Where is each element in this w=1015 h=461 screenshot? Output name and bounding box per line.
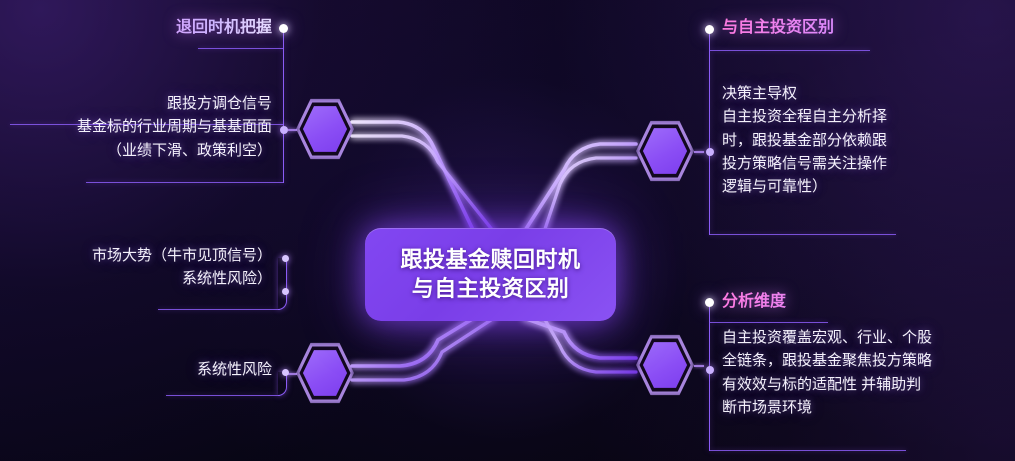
center-node-line-1: 跟投基金赎回时机 — [400, 247, 580, 274]
hex-node-analysis-dimension — [636, 333, 694, 397]
branch-line-analysis-2: 全链条，跟投基金聚焦投方策略 — [722, 349, 1014, 372]
branch-line-exit-timing-3: （业绩下滑、政策利空） — [0, 139, 272, 162]
branch-heading-exit-timing: 退回时机把握 — [0, 18, 272, 38]
hex-node-exit-timing — [296, 97, 354, 161]
branch-systemic-risk[interactable]: 系统性风险 — [0, 358, 272, 381]
branch-heading-analysis-dimension: 分析维度 — [722, 292, 1014, 312]
branch-dot-exit-timing — [279, 24, 288, 33]
rail-exit-timing — [283, 28, 284, 183]
branch-line-systemic-risk-1: 系统性风险 — [0, 358, 272, 381]
branch-line-diff-4: 投方策略信号需关注操作 — [722, 152, 1012, 175]
diagram-canvas: 跟投基金赎回时机 与自主投资区别 退回时机把握 跟投方调仓信号 基金标的行业周期… — [0, 0, 1015, 461]
branch-line-analysis-4: 断市场景环境 — [722, 396, 1014, 419]
branch-dot-analysis-dimension — [705, 298, 714, 307]
rail-analysis-dimension — [709, 303, 710, 451]
branch-analysis-dimension[interactable]: 分析维度 自主投资覆盖宏观、行业、个股 全链条，跟投基金聚焦投方策略 有效效与标… — [722, 292, 1014, 419]
center-node-line-2: 与自主投资区别 — [412, 276, 570, 303]
branch-exit-timing[interactable]: 退回时机把握 跟投方调仓信号 基金标的行业周期与基基面面 （业绩下滑、政策利空） — [0, 18, 272, 162]
branch-heading-diff-from-self-investing: 与自主投资区别 — [722, 18, 1012, 38]
branch-dot-diff-from-self-investing — [705, 25, 714, 34]
branch-line-diff-2: 自主投资全程自主分析择 — [722, 105, 1012, 128]
rail-tick-exit-timing-3 — [86, 182, 284, 183]
branch-line-market-trend-2: 系统性风险） — [0, 267, 272, 290]
branch-diff-from-self-investing[interactable]: 与自主投资区别 决策主导权 自主投资全程自主分析择 时，跟投基金部分依赖跟 投方… — [722, 18, 1012, 198]
branch-dot-market-trend-1 — [282, 255, 289, 262]
branch-line-exit-timing-1: 跟投方调仓信号 — [0, 92, 272, 115]
rail-market-trend — [278, 258, 287, 310]
rail-diff-from-self-investing — [709, 30, 710, 235]
branch-market-trend[interactable]: 市场大势（牛市见顶信号） 系统性风险） — [0, 244, 272, 291]
rail-dot-analysis-dimension — [706, 366, 714, 374]
branch-line-diff-1: 决策主导权 — [722, 82, 1012, 105]
hex-node-diff-from-self-investing — [636, 119, 694, 183]
branch-line-analysis-3: 有效效与标的适配性 并辅助判 — [722, 373, 1014, 396]
rail-dot-exit-timing — [280, 126, 288, 134]
branch-dot-market-trend-2 — [282, 288, 289, 295]
branch-line-diff-5: 逻辑与可靠性） — [722, 175, 1012, 198]
branch-line-market-trend-1: 市场大势（牛市见顶信号） — [0, 244, 272, 267]
rail-dot-diff-from-self-investing — [706, 148, 714, 156]
rail-tick-analysis-2 — [710, 450, 906, 451]
branch-line-diff-3: 时，跟投基金部分依赖跟 — [722, 129, 1012, 152]
center-node[interactable]: 跟投基金赎回时机 与自主投资区别 — [365, 228, 616, 321]
branch-dot-systemic-risk — [282, 369, 289, 376]
rail-tick-systemic-risk — [166, 395, 280, 396]
branch-line-exit-timing-2: 基金标的行业周期与基基面面 — [0, 115, 272, 138]
hex-node-systemic-risk — [296, 341, 354, 405]
rail-tick-diff-2 — [710, 234, 896, 235]
branch-line-analysis-1: 自主投资覆盖宏观、行业、个股 — [722, 326, 1014, 349]
rail-tick-market-trend — [158, 309, 280, 310]
